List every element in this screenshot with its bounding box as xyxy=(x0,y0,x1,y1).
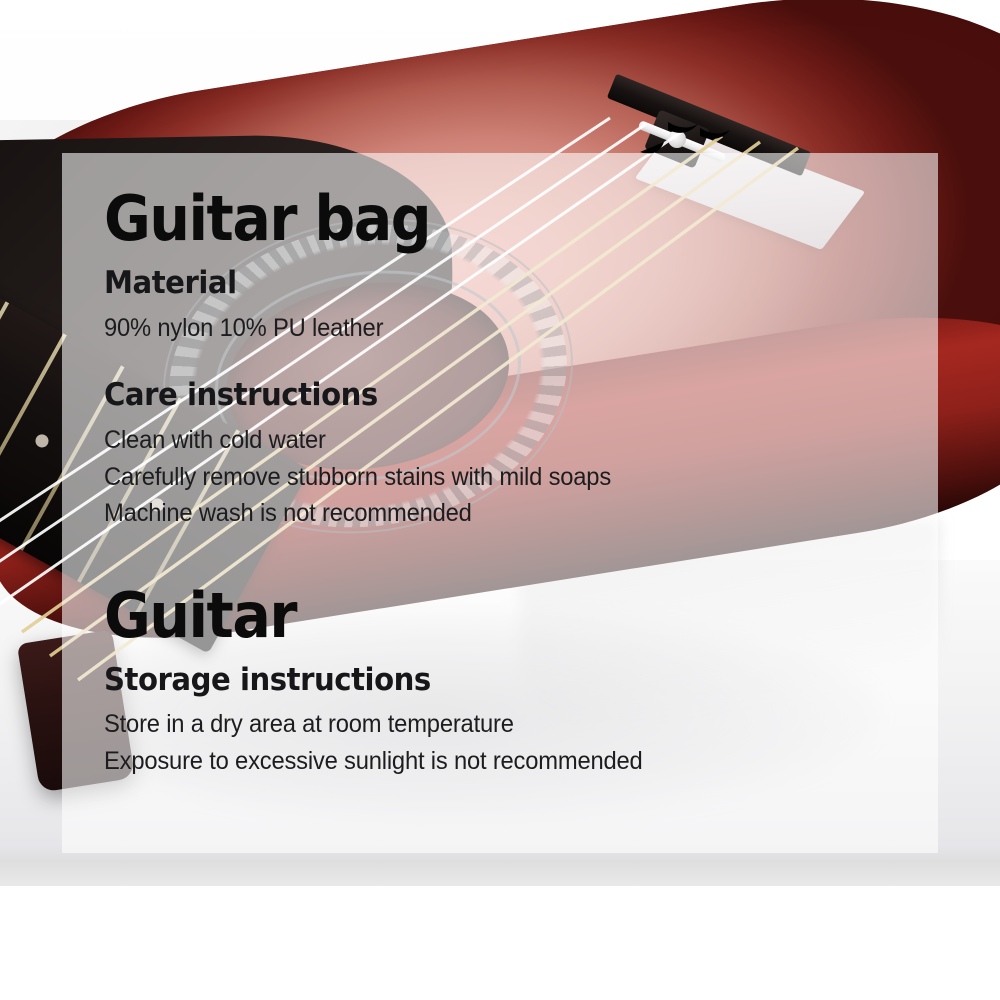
heading-storage-instructions: Storage instructions xyxy=(104,663,850,699)
section-guitar-bag: Guitar bag Material 90% nylon 10% PU lea… xyxy=(104,187,898,530)
storage-line-2: Exposure to excessive sunlight is not re… xyxy=(104,745,858,778)
guitar-bridge-pin xyxy=(668,130,686,148)
section-title-guitar: Guitar xyxy=(104,584,834,647)
heading-material: Material xyxy=(104,266,850,302)
section-title-guitar-bag: Guitar bag xyxy=(104,187,834,250)
fretboard-inlay-dot xyxy=(33,432,51,450)
storage-line-1: Store in a dry area at room temperature xyxy=(104,708,858,741)
section-guitar: Guitar Storage instructions Store in a d… xyxy=(104,584,898,778)
material-line-1: 90% nylon 10% PU leather xyxy=(104,312,858,345)
specifications-overlay-panel: Guitar bag Material 90% nylon 10% PU lea… xyxy=(62,153,938,853)
care-line-2: Carefully remove stubborn stains with mi… xyxy=(104,461,858,494)
heading-care-instructions: Care instructions xyxy=(104,378,850,414)
care-line-1: Clean with cold water xyxy=(104,424,858,457)
product-detail-image: Guitar bag Material 90% nylon 10% PU lea… xyxy=(0,0,1000,1000)
fret-wire xyxy=(0,333,67,519)
care-line-3: Machine wash is not recommended xyxy=(104,497,858,530)
fret-wire xyxy=(0,301,9,487)
